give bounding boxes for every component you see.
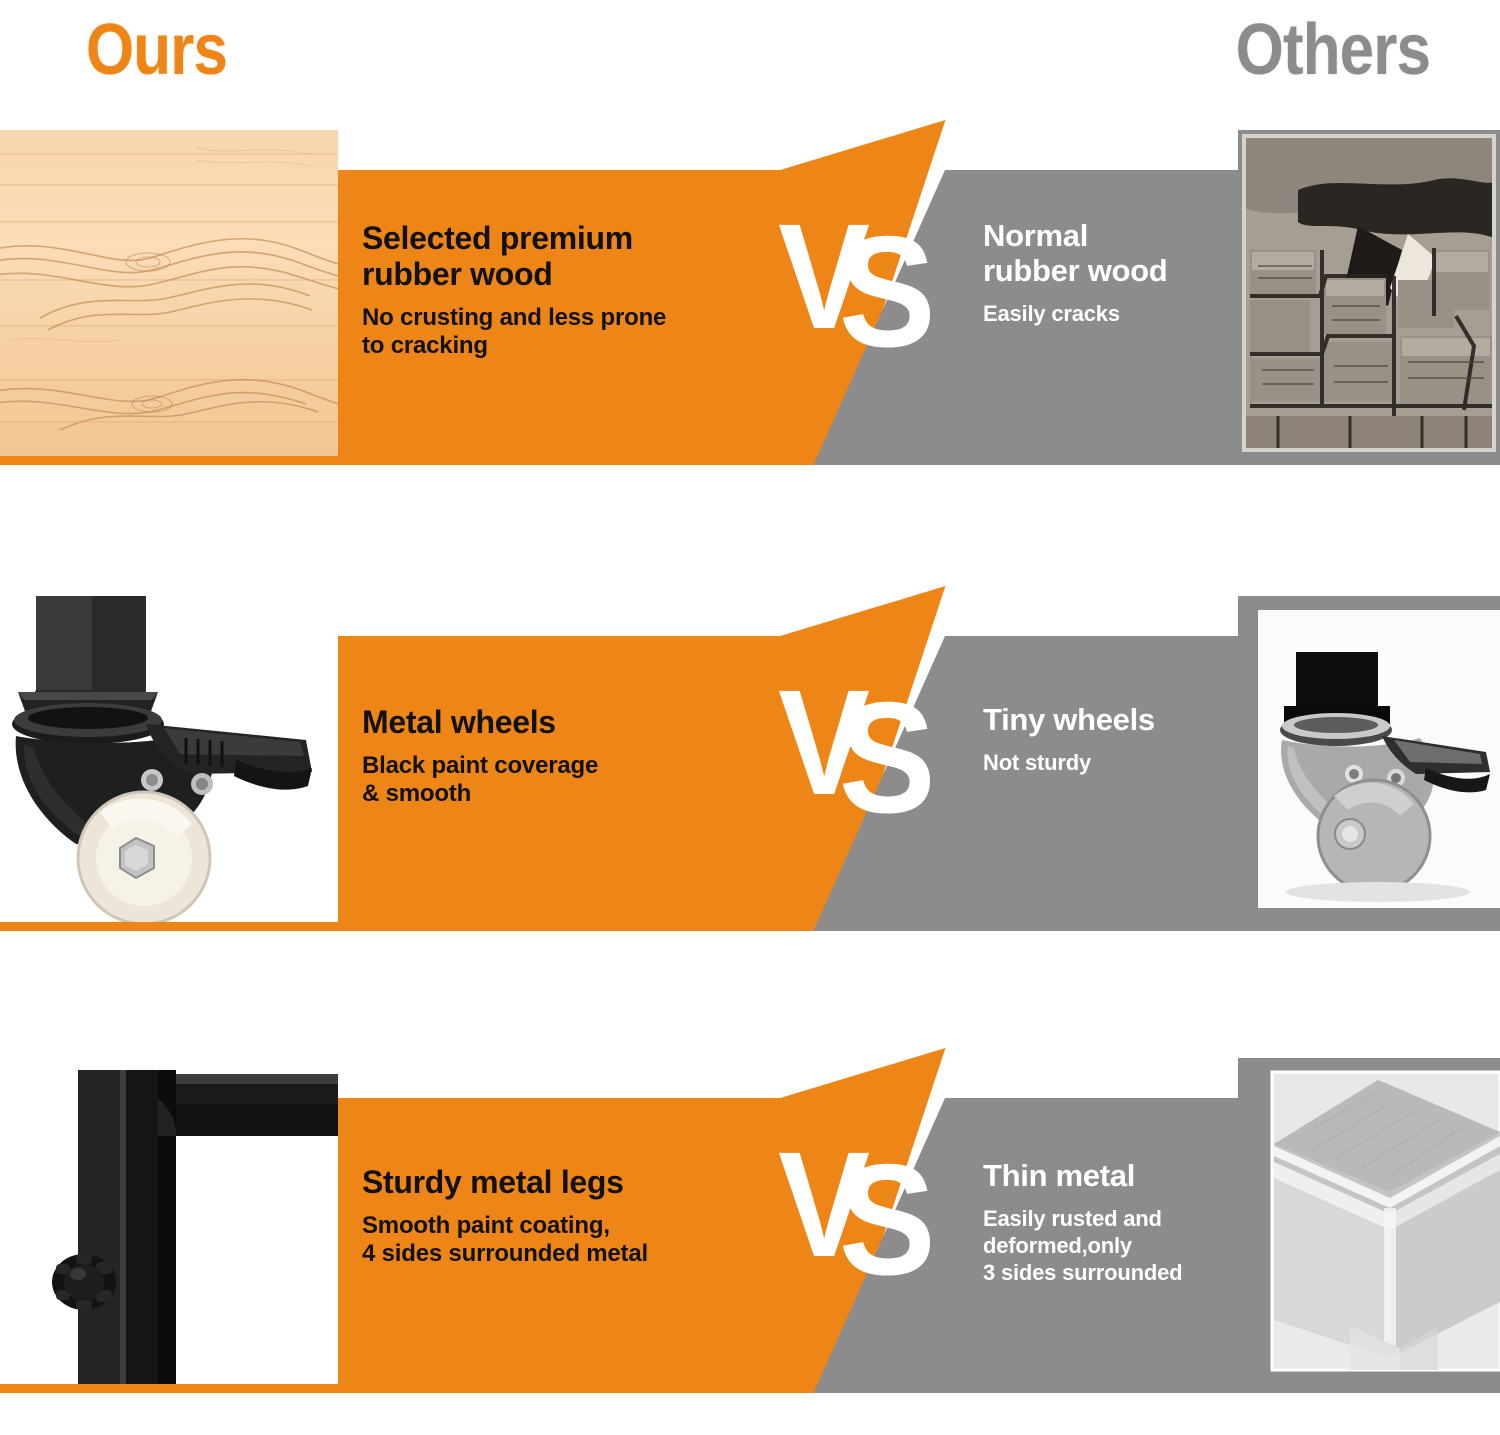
ours-copy-3: Sturdy metal legs Smooth paint coating, … [362,1164,762,1268]
ours-heading-3: Sturdy metal legs [362,1164,762,1200]
ours-subtext-3: Smooth paint coating, 4 sides surrounded… [362,1212,762,1268]
thin-stainless-table-corner-photo [1238,1058,1500,1384]
others-heading-2: Tiny wheels [983,702,1243,737]
others-copy-2: Tiny wheels Not sturdy [983,702,1243,776]
header: Ours Others [0,0,1500,122]
others-heading-3: Thin metal [983,1158,1243,1193]
premium-rubber-wood-photo [0,130,338,456]
others-copy-3: Thin metal Easily rusted and deformed,on… [983,1158,1243,1286]
comparison-infographic: Ours Others [0,0,1500,1435]
cracked-rubber-wood-photo [1238,130,1500,456]
ours-copy-2: Metal wheels Black paint coverage & smoo… [362,704,762,808]
ours-heading-2: Metal wheels [362,704,762,740]
tiny-caster-wheel-photo [1238,596,1500,922]
comparison-row-3: V S Sturdy metal legs Smooth paint coati… [0,1048,1500,1393]
sturdy-black-metal-leg-photo [0,1058,338,1384]
ours-subtext-1: No crusting and less prone to cracking [362,304,762,360]
others-subtext-2: Not sturdy [983,749,1243,776]
others-title: Others [1236,2,1430,98]
ours-copy-1: Selected premium rubber wood No crusting… [362,220,762,360]
comparison-row-1: V S Selected premium rubber wood No crus… [0,120,1500,465]
others-subtext-3: Easily rusted and deformed,only 3 sides … [983,1205,1243,1286]
others-heading-1: Normal rubber wood [983,218,1243,288]
others-copy-1: Normal rubber wood Easily cracks [983,218,1243,327]
ours-title: Ours [86,2,227,98]
ours-subtext-2: Black paint coverage & smooth [362,752,762,808]
ours-heading-1: Selected premium rubber wood [362,220,762,292]
others-subtext-1: Easily cracks [983,300,1243,327]
black-metal-caster-wheel-photo [0,596,338,922]
comparison-row-2: V S Metal wheels Black paint coverage & … [0,586,1500,931]
